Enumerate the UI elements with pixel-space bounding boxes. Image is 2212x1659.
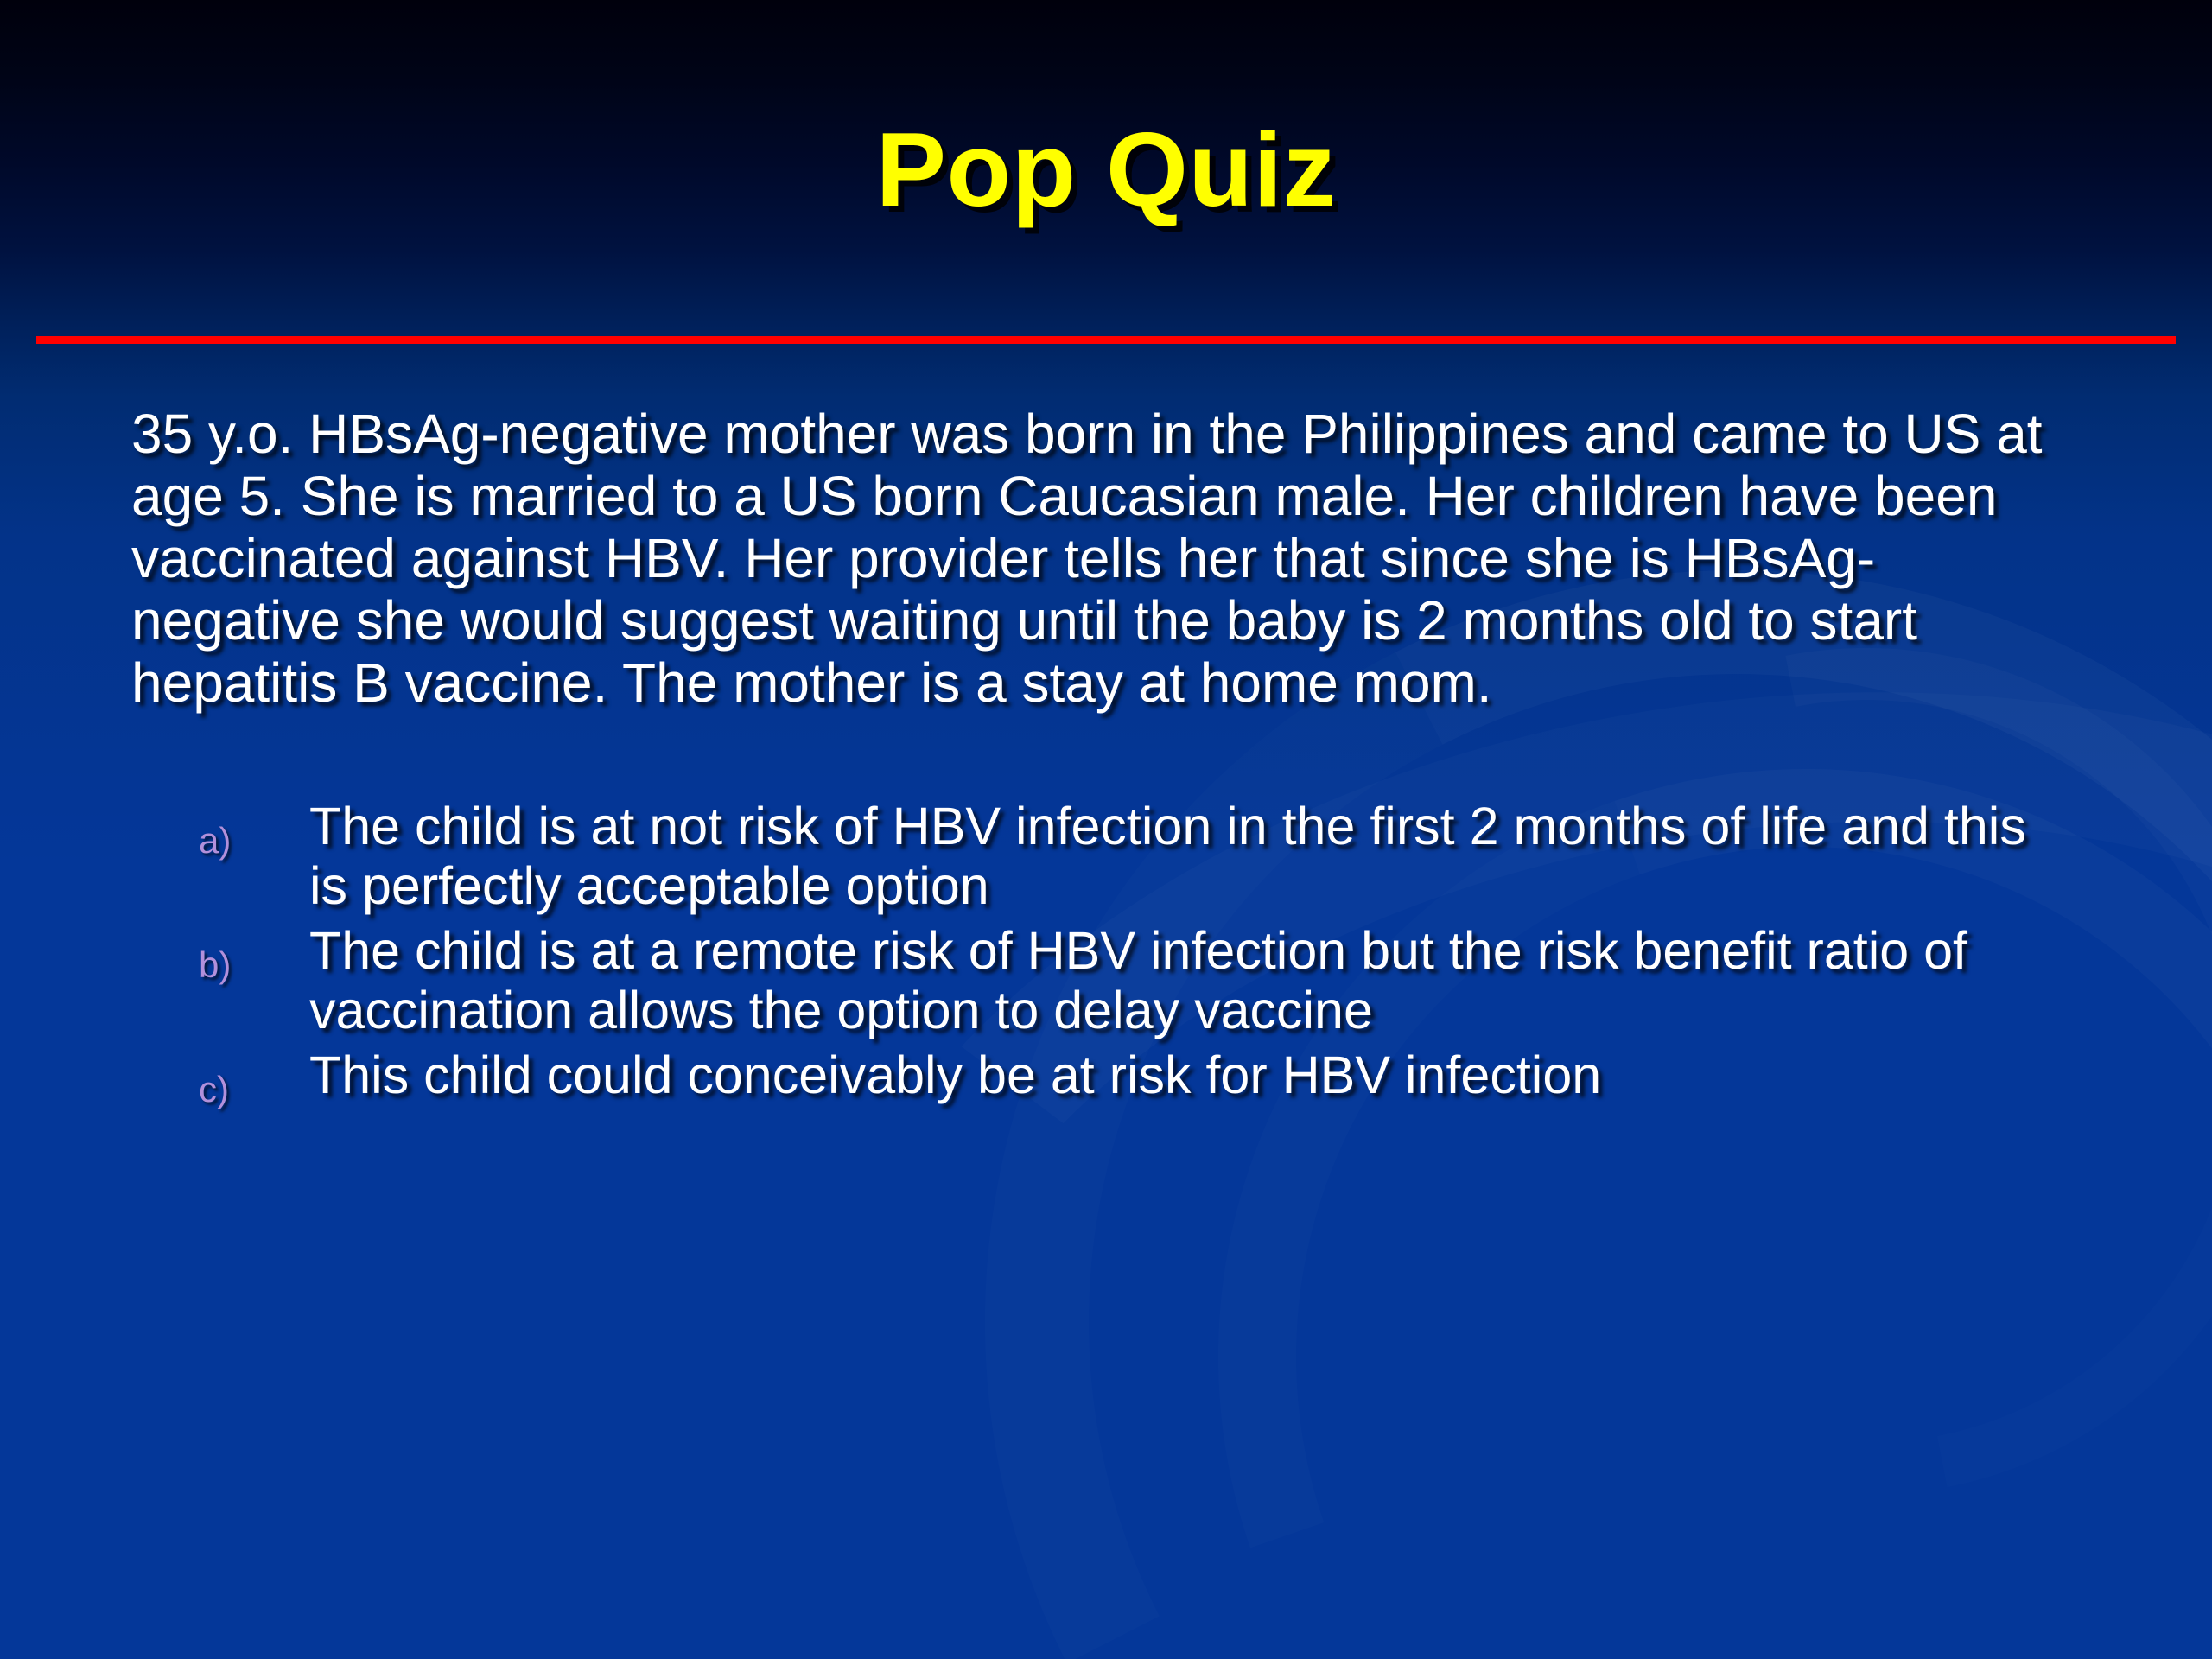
presentation-slide: Pop Quiz 35 y.o. HBsAg-negative mother w… [0, 0, 2212, 1659]
slide-body: 35 y.o. HBsAg-negative mother was born i… [131, 403, 2119, 1113]
list-item[interactable]: c) This child could conceivably be at ri… [199, 1046, 2119, 1108]
case-vignette-paragraph: 35 y.o. HBsAg-negative mother was born i… [131, 403, 2075, 714]
answer-options-list: a) The child is at not risk of HBV infec… [199, 797, 2119, 1108]
option-marker-a: a) [199, 797, 309, 859]
list-item[interactable]: a) The child is at not risk of HBV infec… [199, 797, 2119, 916]
option-text-b: The child is at a remote risk of HBV inf… [309, 921, 2072, 1040]
list-item[interactable]: b) The child is at a remote risk of HBV … [199, 921, 2119, 1040]
option-text-c: This child could conceivably be at risk … [309, 1046, 2072, 1105]
slide-title: Pop Quiz [0, 111, 2212, 229]
title-divider-rule [36, 336, 2176, 344]
option-text-a: The child is at not risk of HBV infectio… [309, 797, 2072, 916]
option-marker-c: c) [199, 1046, 309, 1108]
option-marker-b: b) [199, 921, 309, 983]
